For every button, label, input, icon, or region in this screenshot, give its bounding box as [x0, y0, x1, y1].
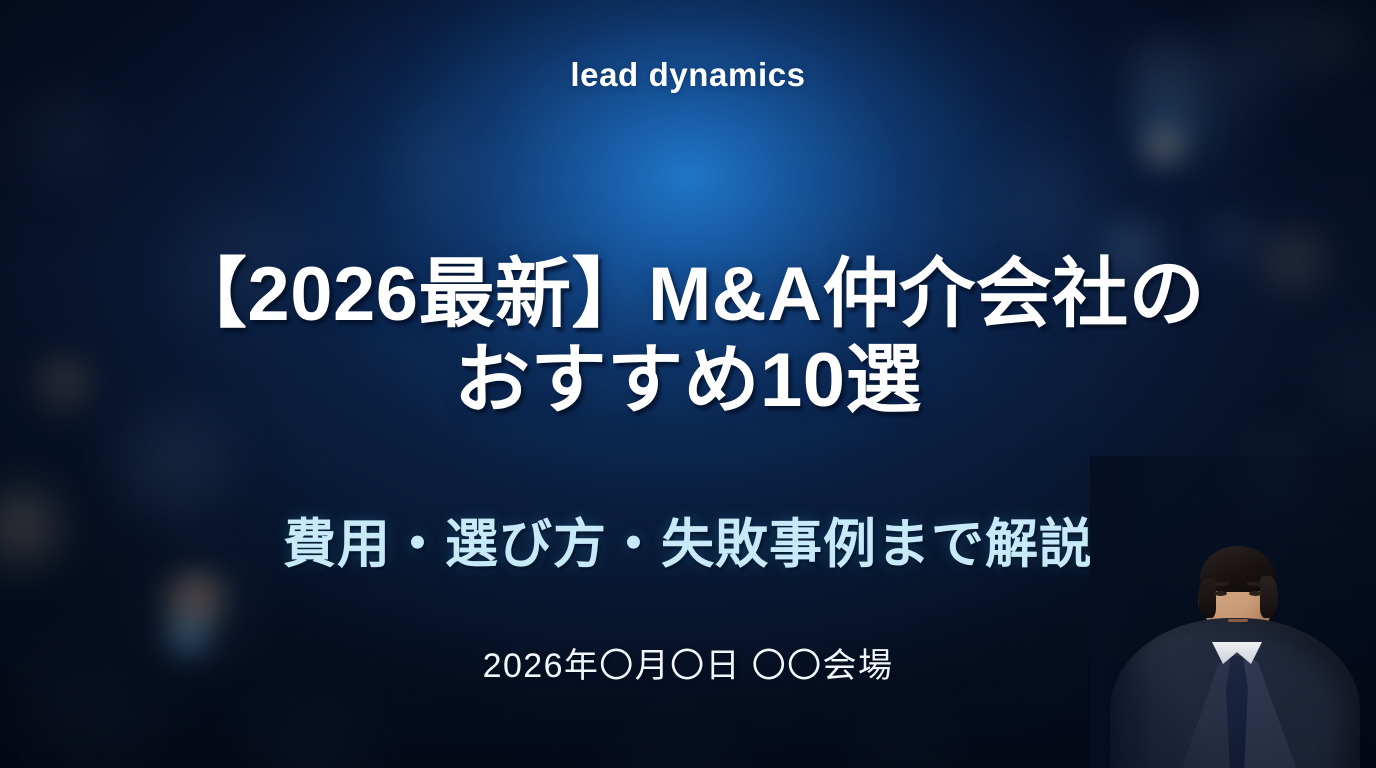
page-subtitle: 費用・選び方・失敗事例まで解説: [0, 502, 1376, 578]
brand-logo-text: lead dynamics: [0, 56, 1376, 94]
page-title: 【2026最新】M&A仲介会社の おすすめ10選: [0, 252, 1376, 424]
page-title-line-1: 【2026最新】M&A仲介会社の: [0, 252, 1376, 338]
page-title-line-2: おすすめ10選: [0, 338, 1376, 424]
slide-canvas: lead dynamics 【2026最新】M&A仲介会社の おすすめ10選 費…: [0, 0, 1376, 768]
date-and-venue-text: 2026年〇月〇日 〇〇会場: [0, 638, 1376, 687]
